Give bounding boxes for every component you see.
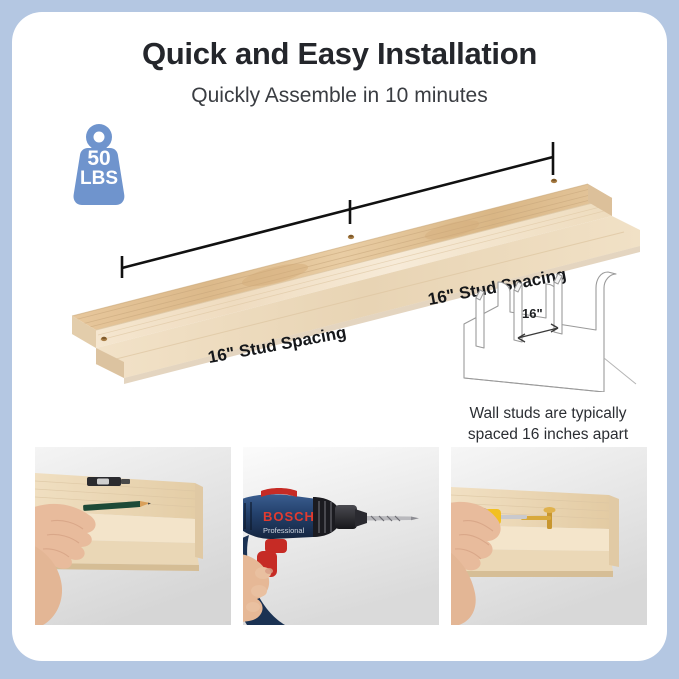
photo-screw-shelf <box>451 447 647 625</box>
photo-drill-hole: BOSCH Professional <box>243 447 439 625</box>
stud-measure-label: 16" <box>522 306 543 321</box>
step-photos: BOSCH Professional <box>35 447 647 625</box>
step-photo-1 <box>35 447 231 625</box>
drill-brand-label: BOSCH <box>263 509 315 524</box>
stud-diagram-caption: Wall studs are typically spaced 16 inche… <box>448 404 648 446</box>
page-title: Quick and Easy Installation <box>0 36 679 72</box>
infographic-root: Quick and Easy Installation Quickly Asse… <box>0 0 679 679</box>
page-subtitle: Quickly Assemble in 10 minutes <box>0 84 679 108</box>
stud-caption-line-1: Wall studs are typically <box>469 405 626 422</box>
drill-brand-subtext: Professional <box>263 526 305 535</box>
photo-mark-with-pencil <box>35 447 231 625</box>
step-photo-3 <box>451 447 647 625</box>
step-photo-2: BOSCH Professional <box>243 447 439 625</box>
wall-studs-icon: 16" <box>458 262 640 392</box>
wall-stud-diagram: 16" <box>458 262 640 392</box>
stud-caption-line-2: spaced 16 inches apart <box>468 426 628 443</box>
